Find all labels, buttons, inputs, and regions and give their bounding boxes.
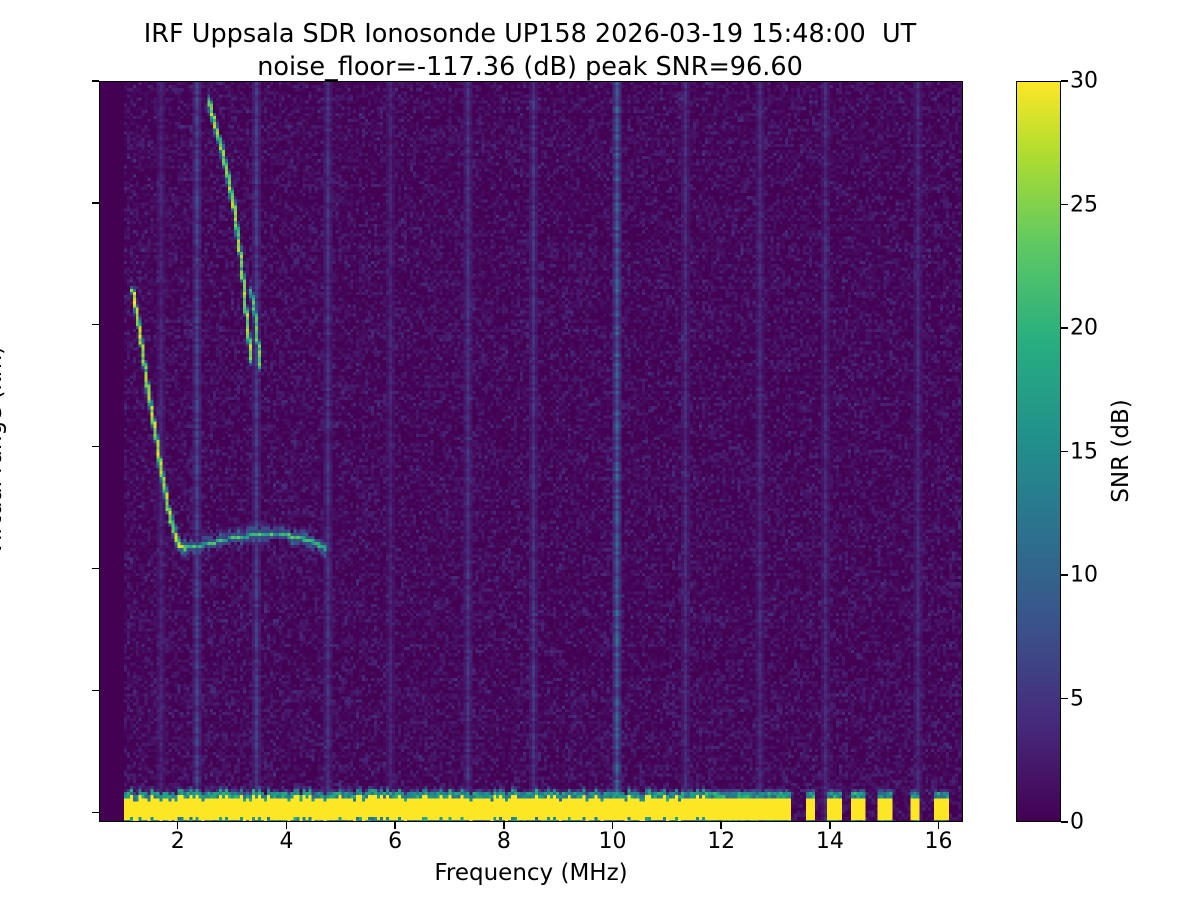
colorbar-tick-label: 20 — [1070, 316, 1098, 341]
x-tick-mark — [938, 822, 939, 829]
ionogram-axes[interactable] — [99, 81, 963, 822]
x-tick-mark — [394, 822, 395, 829]
x-tick-mark — [612, 822, 613, 829]
y-tick-mark — [92, 568, 99, 569]
x-tick-mark — [829, 822, 830, 829]
ionogram-figure: IRF Uppsala SDR Ionosonde UP158 2026-03-… — [0, 0, 1200, 900]
x-tick-label: 6 — [388, 829, 402, 854]
figure-title: IRF Uppsala SDR Ionosonde UP158 2026-03-… — [0, 18, 1060, 84]
x-tick-mark — [286, 822, 287, 829]
y-tick-mark — [92, 812, 99, 813]
y-tick-mark — [92, 690, 99, 691]
colorbar-gradient — [1016, 81, 1061, 822]
colorbar-tick-label: 15 — [1070, 439, 1098, 464]
y-tick-mark — [92, 324, 99, 325]
x-tick-label: 4 — [279, 829, 293, 854]
x-tick-label: 16 — [925, 829, 953, 854]
y-tick-mark — [92, 80, 99, 81]
colorbar-tick-mark — [1061, 698, 1068, 699]
y-axis-label: Virtual range (km) — [0, 346, 7, 556]
colorbar-tick-mark — [1061, 451, 1068, 452]
colorbar-label: SNR (dB) — [1108, 399, 1134, 502]
x-tick-mark — [720, 822, 721, 829]
colorbar-tick-mark — [1061, 574, 1068, 575]
x-tick-label: 10 — [599, 829, 627, 854]
x-tick-label: 8 — [497, 829, 511, 854]
colorbar-tick-mark — [1061, 80, 1068, 81]
x-axis-label: Frequency (MHz) — [434, 860, 627, 886]
y-tick-mark — [92, 446, 99, 447]
colorbar-tick-label: 25 — [1070, 192, 1098, 217]
x-tick-mark — [177, 822, 178, 829]
x-tick-label: 2 — [171, 829, 185, 854]
y-tick-mark — [92, 202, 99, 203]
colorbar[interactable] — [1016, 81, 1061, 822]
x-tick-label: 12 — [707, 829, 735, 854]
x-tick-label: 14 — [816, 829, 844, 854]
colorbar-tick-mark — [1061, 327, 1068, 328]
x-tick-mark — [503, 822, 504, 829]
ionogram-heatmap[interactable] — [100, 82, 963, 822]
colorbar-tick-label: 30 — [1070, 69, 1098, 94]
colorbar-tick-label: 0 — [1070, 810, 1084, 835]
colorbar-tick-label: 5 — [1070, 686, 1084, 711]
title-line-2: noise_floor=-117.36 (dB) peak SNR=96.60 — [0, 51, 1060, 84]
colorbar-tick-mark — [1061, 204, 1068, 205]
colorbar-tick-label: 10 — [1070, 563, 1098, 588]
title-line-1: IRF Uppsala SDR Ionosonde UP158 2026-03-… — [0, 18, 1060, 51]
colorbar-tick-mark — [1061, 821, 1068, 822]
